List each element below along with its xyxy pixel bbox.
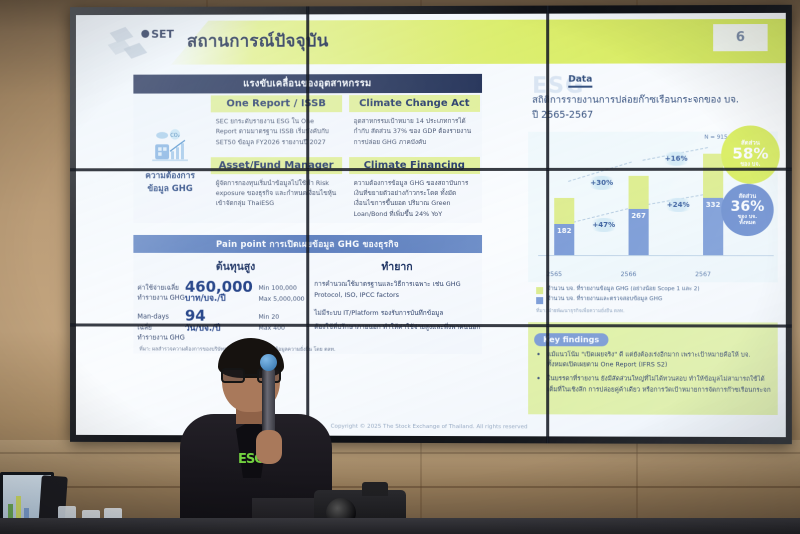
label-line-1: ความต้องการ xyxy=(145,171,195,181)
bar-segment-verified: 267 xyxy=(629,209,649,256)
chart-legend: จำนวน บจ. ที่รายงานข้อมูล GHG (อย่างน้อย… xyxy=(536,286,778,315)
page-title: สถานการณ์ปัจจุบัน xyxy=(187,27,329,54)
key-finding-text: ในบรรดาที่รายงาน ยังมีสัดส่วนใหญ่ที่ไม่ไ… xyxy=(547,375,771,396)
painpoint-value-cost: 460,000 บาท/บจ./ปี xyxy=(185,279,259,305)
driver-card-body: ผู้จัดการกองทุนเริ่มนำข้อมูลไปใช้ทำ Risk… xyxy=(211,174,342,221)
badge-line-3: ของ บจ. xyxy=(740,163,760,169)
drivers-section-header: แรงขับเคลื่อนของอุตสาหกรรม xyxy=(133,74,482,94)
painpoint-source-note: ที่มา: ผลสำรวจความต้องการของบริษัทจดทะเบ… xyxy=(133,343,482,354)
badge-line-4: ทั้งหมด xyxy=(739,221,755,227)
chart-title-text: สถิติการรายงานการปล่อยก๊าซเรือนกระจกของ … xyxy=(532,94,739,105)
bar-value-label: 182 xyxy=(554,227,574,235)
value-number: 94 xyxy=(185,307,206,325)
row-label-line-2: ทำรายงาน GHG xyxy=(137,333,184,341)
painpoint-col-header-difficulty: ทำยาก xyxy=(304,258,482,275)
painpoint-body: ต้นทุนสูง ทำยาก ค่าใช้จ่ายเฉลี่ย ทำรายงา… xyxy=(133,253,482,354)
painpoint-difficulty-cost: การคำนวณใช้มาตรฐานและวิธีการเฉพาะ เช่น G… xyxy=(308,279,482,305)
key-findings-pill: Key findings xyxy=(534,333,608,346)
drivers-card-grid: One Report / ISSB SEC ยกระดับรายงาน ESG … xyxy=(207,93,482,223)
legend-swatch-verified xyxy=(536,297,543,304)
video-wall-display: SET สถานการณ์ปัจจุบัน 6 แรงขับเคลื่อนของ… xyxy=(70,5,792,444)
growth-badge-16: +16% xyxy=(661,152,692,166)
driver-card-body: ความต้องการข้อมูล GHG ของสถาบันการเงินที… xyxy=(349,173,480,221)
bullet-icon: • xyxy=(536,350,542,370)
bar-segment-reported xyxy=(703,154,723,198)
ghg-reporting-bar-chart: N = 915 บริษัท 182 xyxy=(528,132,778,283)
driver-card-title: Asset/Fund Manager xyxy=(211,157,342,174)
wall-seam xyxy=(0,486,800,488)
wall-seam xyxy=(0,452,800,454)
painpoint-row-label: Man-days เฉลี่ย ทำรายงาน GHG xyxy=(137,308,185,343)
right-column: ESG Data สถิติการรายงานการปล่อยก๊าซเรือน… xyxy=(526,73,778,411)
growth-badge-47: +47% xyxy=(588,218,619,232)
key-finding-text: แม้แนวโน้ม "เปิดเผยจริง" ดี แต่ยังต้องเร… xyxy=(547,350,771,371)
driver-card-asset-fund-manager[interactable]: Asset/Fund Manager ผู้จัดการกองทุนเริ่มน… xyxy=(211,157,342,221)
painpoint-minmax-cost: Min 100,000 Max 5,000,000 xyxy=(258,279,308,305)
growth-badge-30: +30% xyxy=(586,176,617,190)
presentation-slide: SET สถานการณ์ปัจจุบัน 6 แรงขับเคลื่อนของ… xyxy=(76,13,786,437)
x-axis-tick-2567: 2567 xyxy=(683,271,723,278)
bullet-icon: • xyxy=(536,375,542,395)
row-label-line-2: ทำรายงาน GHG xyxy=(137,294,184,302)
ghg-data-demand-block: CO₂ ความต้องการ ข้อมูล GHG xyxy=(133,93,206,223)
svg-text:SET: SET xyxy=(151,28,174,41)
value-unit: วัน/บจ./ปี xyxy=(185,324,259,333)
legend-swatch-reported xyxy=(536,287,543,294)
chart-title: สถิติการรายงานการปล่อยก๊าซเรือนกระจกของ … xyxy=(532,92,778,123)
min-value: Min 20 xyxy=(258,314,279,321)
value-unit: บาท/บจ./ปี xyxy=(185,295,259,304)
set-logo: SET xyxy=(104,23,177,65)
difficulty-item: การคำนวณใช้มาตรฐานและวิธีการเฉพาะ เช่น G… xyxy=(314,279,482,301)
esg-data-label: Data xyxy=(568,75,592,88)
x-axis-tick-2566: 2566 xyxy=(608,271,648,278)
driver-card-climate-financing[interactable]: Climate Financing ความต้องการข้อมูล GHG … xyxy=(349,156,480,221)
driver-card-body: อุตสาหกรรมเป้าหมาย 14 ประเภทการได้กำกับ … xyxy=(349,112,480,154)
bar-value-label: 332 xyxy=(703,201,723,209)
driver-card-title: Climate Financing xyxy=(349,156,480,173)
max-value: Max 400 xyxy=(258,325,284,332)
legend-item-reported: จำนวน บจ. ที่รายงานข้อมูล GHG (อย่างน้อย… xyxy=(536,286,778,294)
badge-line-2: 36% xyxy=(731,200,765,215)
row-label-line-1: ค่าใช้จ่ายเฉลี่ย xyxy=(137,284,179,292)
painpoint-minmax-mandays: Min 20 Max 400 xyxy=(258,308,308,343)
driver-card-climate-change-act[interactable]: Climate Change Act อุตสาหกรรมเป้าหมาย 14… xyxy=(349,95,480,154)
drivers-body: CO₂ ความต้องการ ข้อมูล GHG xyxy=(133,93,482,223)
svg-text:CO₂: CO₂ xyxy=(170,133,179,139)
legend-label-verified: จำนวน บจ. ที่รายงานและตรวจสอบข้อมูล GHG xyxy=(547,296,662,304)
key-findings-list: • แม้แนวโน้ม "เปิดเผยจริง" ดี แต่ยังต้อง… xyxy=(534,350,772,395)
bar-segment-reported xyxy=(554,198,574,224)
bar-segment-reported xyxy=(629,176,649,209)
painpoint-difficulty-mandays: ไม่มีระบบ IT/Platform รองรับการบันทึกข้อ… xyxy=(308,308,482,343)
difficulty-item: ต้องใช้ที่ปรึกษาภายนอก ทำให้ค่าใช้จ่ายสู… xyxy=(314,322,482,333)
painpoint-column-headers: ต้นทุนสูง ทำยาก xyxy=(133,255,482,277)
legend-label-reported: จำนวน บจ. ที่รายงานข้อมูล GHG (อย่างน้อย… xyxy=(547,286,699,294)
legend-item-verified: จำนวน บจ. ที่รายงานและตรวจสอบข้อมูล GHG xyxy=(536,296,778,304)
badge-36-percent: สัดส่วน 36% ของ บจ. ทั้งหมด xyxy=(721,184,773,236)
bar-value-label: 267 xyxy=(629,212,649,220)
ghg-data-demand-label: ความต้องการ ข้อมูล GHG xyxy=(145,170,195,195)
bar-group-2567[interactable]: 332 xyxy=(703,138,723,257)
bar-group-2566[interactable]: 267 xyxy=(629,138,649,256)
painpoint-section-header: Pain point การเปิดเผยข้อมูล GHG ของธุรกิ… xyxy=(133,235,482,253)
wall-highlight xyxy=(0,440,800,486)
chart-title-years: ปี 2565-2567 xyxy=(532,108,778,124)
min-value: Min 100,000 xyxy=(258,285,296,292)
painpoint-value-mandays: 94 วัน/บจ./ปี xyxy=(185,308,259,343)
difficulty-item: ไม่มีระบบ IT/Platform รองรับการบันทึกข้อ… xyxy=(314,308,482,319)
key-findings-panel: Key findings • แม้แนวโน้ม "เปิดเผยจริง" … xyxy=(528,322,778,415)
copyright-notice: Copyright © 2025 The Stock Exchange of T… xyxy=(76,423,786,431)
driver-card-body: SEC ยกระดับรายงาน ESG ใน One Report ตามม… xyxy=(211,112,342,154)
driver-card-title: One Report / ISSB xyxy=(211,95,342,112)
row-label-line-1: Man-days เฉลี่ย xyxy=(137,313,169,331)
page-number-badge: 6 xyxy=(713,24,767,51)
painpoint-row-mandays: Man-days เฉลี่ย ทำรายงาน GHG 94 วัน/บจ./… xyxy=(133,306,482,344)
slide-header: SET สถานการณ์ปัจจุบัน 6 xyxy=(76,13,786,73)
driver-card-title: Climate Change Act xyxy=(349,95,480,112)
painpoint-col-header-cost: ต้นทุนสูง xyxy=(133,258,304,275)
painpoint-row-label: ค่าใช้จ่ายเฉลี่ย ทำรายงาน GHG xyxy=(137,279,185,305)
bar-segment-verified: 182 xyxy=(554,224,574,256)
max-value: Max 5,000,000 xyxy=(258,295,304,302)
x-axis-tick-2565: 2565 xyxy=(534,271,574,278)
driver-card-one-report-issb[interactable]: One Report / ISSB SEC ยกระดับรายงาน ESG … xyxy=(211,95,342,154)
key-finding-item: • ในบรรดาที่รายงาน ยังมีสัดส่วนใหญ่ที่ไม… xyxy=(536,375,772,396)
label-line-2: ข้อมูล GHG xyxy=(147,184,192,194)
bar-segment-verified: 332 xyxy=(703,198,723,256)
key-finding-item: • แม้แนวโน้ม "เปิดเผยจริง" ดี แต่ยังต้อง… xyxy=(536,350,772,371)
bar-group-2565[interactable]: 182 xyxy=(554,138,574,256)
painpoint-row-cost: ค่าใช้จ่ายเฉลี่ย ทำรายงาน GHG 460,000 บา… xyxy=(133,277,482,307)
chart-source-note: ที่มา: ฝ่ายพัฒนาธุรกิจเพื่อความยั่งยืน ต… xyxy=(536,307,778,315)
left-column: แรงขับเคลื่อนของอุตสาหกรรม CO₂ xyxy=(133,74,482,408)
ghg-data-demand-icon: CO₂ xyxy=(148,128,192,168)
badge-line-2: 58% xyxy=(732,147,768,163)
growth-badge-24: +24% xyxy=(663,198,694,212)
x-axis-line xyxy=(538,255,774,256)
badge-58-percent: สัดส่วน 58% ของ บจ. xyxy=(721,125,780,183)
